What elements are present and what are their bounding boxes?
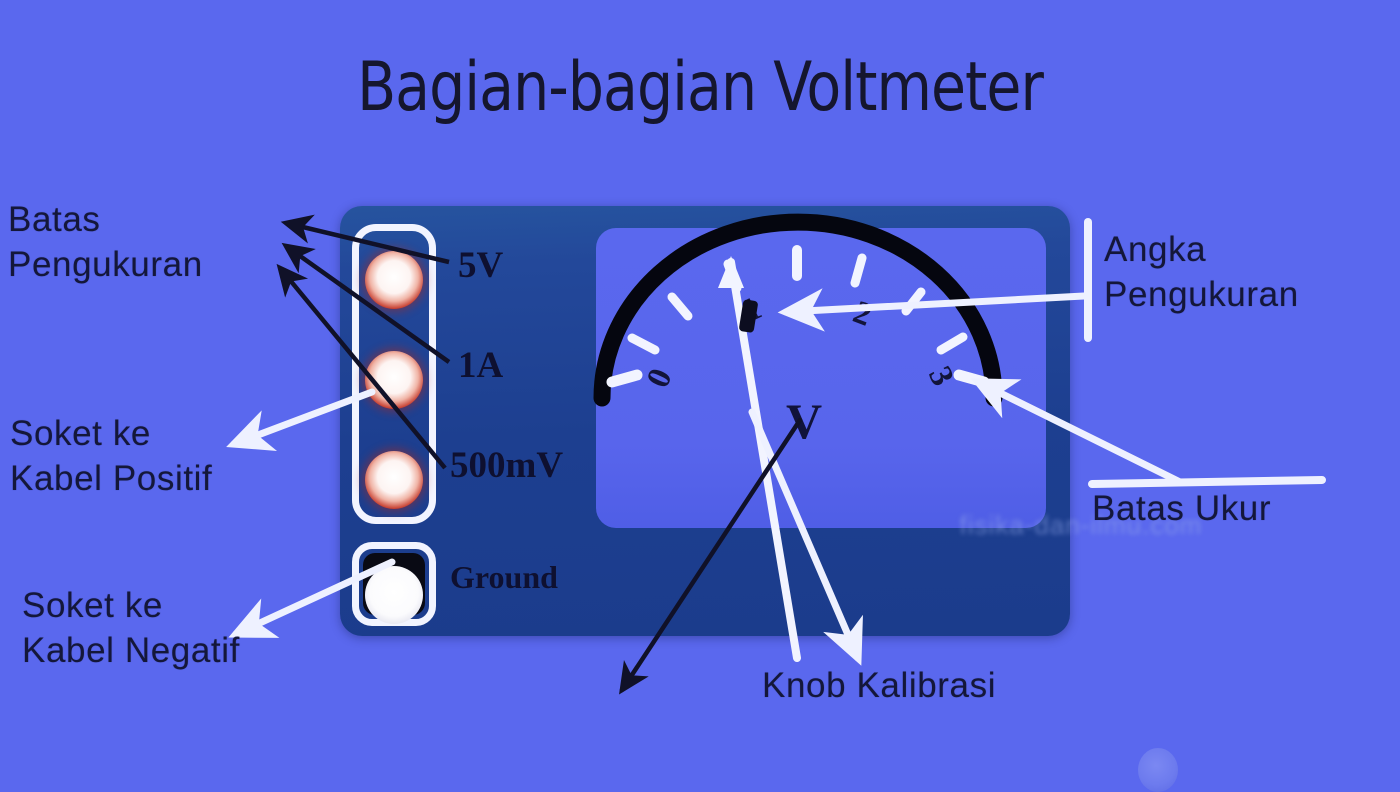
socket-label-500mv: 500mV: [450, 444, 563, 487]
underline-batas-ukur: [1092, 480, 1322, 484]
page-title: Bagian-bagian Voltmeter: [49, 48, 1351, 127]
diagram-canvas: Bagian-bagian Voltmeter fisika-dan-ilmu.…: [0, 0, 1400, 718]
socket-group-positive: [352, 224, 436, 524]
callout-knob-kalibrasi: Knob Kalibrasi: [762, 664, 996, 709]
callout-soket-negatif: Soket ke Kabel Negatif: [22, 584, 240, 674]
socket-500mv[interactable]: [365, 451, 423, 509]
socket-ground[interactable]: [365, 566, 423, 624]
voltmeter-body: fisika-dan-ilmu.com 5V 1A 500mV Ground: [340, 206, 1070, 636]
callout-batas-ukur: Batas Ukur: [1092, 487, 1271, 532]
callout-soket-positif: Soket ke Kabel Positif: [10, 412, 212, 502]
socket-group-ground: [352, 542, 436, 626]
socket-label-1a: 1A: [458, 344, 503, 387]
callout-batas-pengukuran: Batas Pengukuran: [8, 198, 203, 288]
socket-ground-bezel: [363, 553, 425, 615]
callout-angka-pengukuran: Angka Pengukuran: [1104, 228, 1299, 318]
socket-1a[interactable]: [365, 351, 423, 409]
calibration-knob[interactable]: [1138, 748, 1178, 792]
socket-label-5v: 5V: [458, 244, 503, 287]
socket-5v[interactable]: [365, 251, 423, 309]
socket-label-ground: Ground: [450, 559, 558, 596]
unit-symbol-v: V: [786, 392, 822, 450]
